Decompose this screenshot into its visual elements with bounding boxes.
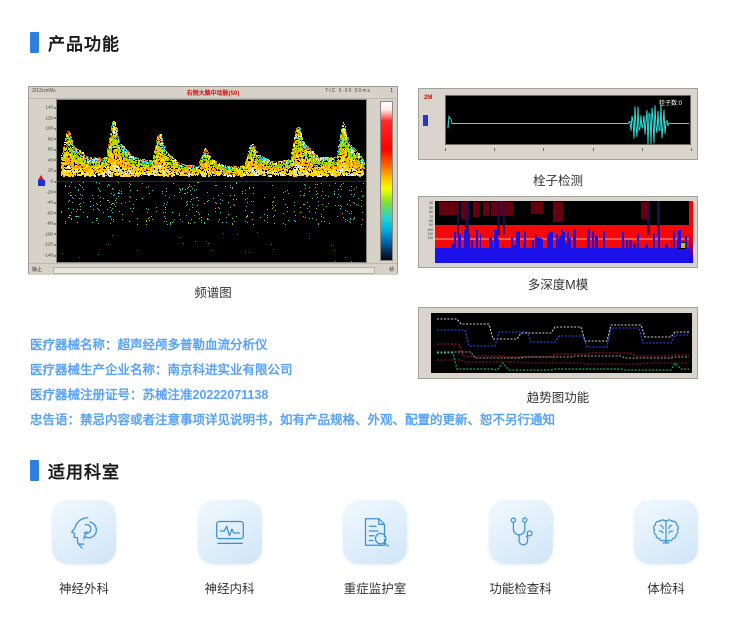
- stethoscope-icon: [489, 500, 553, 564]
- spectrum-y-tick: 80: [48, 136, 53, 141]
- embolus-depth-label: 2M: [424, 95, 432, 101]
- department-item-neurology[interactable]: 神经内科: [170, 500, 290, 597]
- mmode-depth-tick: 120: [427, 236, 433, 240]
- section-accent-bar: [30, 32, 39, 53]
- mmode-drip: [496, 235, 498, 248]
- spectrum-y-tick: -100: [44, 231, 53, 236]
- mmode-drip: [541, 239, 542, 248]
- spectrum-baseline: [57, 181, 366, 182]
- mmode-drip: [595, 236, 598, 248]
- spectrum-gate-marker[interactable]: [38, 175, 45, 186]
- mmode-drip: [592, 231, 593, 249]
- embolus-axis-tick: [445, 148, 446, 151]
- embolus-axis-tick: [593, 148, 594, 151]
- mmode-drip: [671, 240, 672, 248]
- spectrum-body: 140120100806040200-20-40-60-80-100-120-1…: [29, 99, 397, 263]
- spectrum-y-tick: -80: [46, 221, 53, 226]
- department-item-physical-exam[interactable]: 体检科: [606, 500, 726, 597]
- spectrum-scroll-track[interactable]: [53, 267, 375, 274]
- mmode-drip: [458, 234, 461, 248]
- mmode-drip: [489, 238, 492, 248]
- mmode-drip: [513, 245, 515, 248]
- mmode-drip: [480, 234, 481, 248]
- mmode-drip: [633, 243, 635, 248]
- mmode-drip: [637, 234, 640, 248]
- caption-spectrum: 频谱图: [118, 282, 308, 301]
- department-label: 神经外科: [59, 578, 109, 597]
- embolus-count-label: 栓子数:0: [659, 98, 682, 107]
- mmode-drip: [685, 236, 687, 249]
- department-list: 神经外科 神经内科 重症监护室: [24, 500, 726, 597]
- mmode-signal-blob: [553, 202, 563, 221]
- mmode-depth-axis: 405060708090100110120: [421, 201, 434, 263]
- document-search-icon: [343, 500, 407, 564]
- spectrum-screenshot: 3/12cmWs 右侧大脑中动脉(50) TIC 5.60 50ms 1 140…: [28, 86, 398, 274]
- mmode-drip: [465, 235, 467, 248]
- embolus-axis-tick: [543, 148, 544, 151]
- mmode-drip: [558, 239, 560, 248]
- department-label: 重症监护室: [344, 578, 407, 597]
- spectrum-y-tick: 120: [45, 115, 53, 120]
- spectrum-y-tick: 40: [48, 157, 53, 162]
- mmode-reverse-flow-band: [435, 248, 693, 263]
- section-accent-bar-departments: [30, 460, 39, 481]
- mmode-drip: [464, 231, 466, 249]
- mmode-drip: [678, 230, 680, 248]
- caption-mmode: 多深度M模: [458, 274, 658, 293]
- mmode-signal-blob: [473, 202, 479, 217]
- mmode-color-scale: [689, 201, 693, 263]
- spectrum-toolbar: 3/12cmWs 右侧大脑中动脉(50) TIC 5.60 50ms 1: [29, 87, 397, 99]
- mmode-drip: [549, 230, 550, 248]
- mmode-drip: [452, 245, 454, 248]
- mmode-canvas[interactable]: [435, 201, 693, 263]
- department-item-icu[interactable]: 重症监护室: [315, 500, 435, 597]
- mmode-drip: [565, 243, 567, 248]
- spectrum-status-bar: 静止 帧: [29, 263, 397, 275]
- spectrum-y-tick: 20: [48, 168, 53, 173]
- mmode-streak: [503, 201, 505, 235]
- spectrum-y-tick: 140: [45, 105, 53, 110]
- caption-embolus: 栓子检测: [463, 170, 653, 189]
- spectrum-y-tick: -60: [46, 210, 53, 215]
- embolus-axis-tick: [642, 148, 643, 151]
- department-label: 体检科: [647, 578, 685, 597]
- mmode-drip: [476, 230, 479, 248]
- spectrum-status-left: 静止: [32, 266, 42, 273]
- legal-line-device-name: 医疗器械名称：超声经颅多普勒血流分析仪: [30, 337, 590, 354]
- mmode-screenshot: 405060708090100110120: [418, 196, 698, 268]
- spectrum-y-tick: -140: [44, 253, 53, 258]
- mmode-drip: [603, 231, 606, 248]
- mmode-drip: [537, 238, 539, 248]
- department-label: 神经内科: [204, 578, 254, 597]
- embolus-axis-tick: [494, 148, 495, 151]
- spectrum-status-right: 帧: [389, 266, 394, 273]
- mmode-signal-blob: [531, 202, 543, 214]
- spectrum-waveform-canvas[interactable]: [56, 99, 367, 263]
- mmode-drip: [567, 231, 569, 248]
- monitor-ecg-icon: [198, 500, 262, 564]
- mmode-drip: [523, 244, 526, 248]
- section-header-departments: 适用科室: [30, 458, 120, 483]
- spectrum-y-axis: 140120100806040200-20-40-60-80-100-120-1…: [29, 99, 56, 263]
- mmode-drip: [658, 229, 660, 248]
- spectrum-page-number: 1: [390, 88, 393, 94]
- spectrum-y-tick: -20: [46, 189, 53, 194]
- mmode-signal-blob: [491, 202, 513, 216]
- mmode-drip: [573, 244, 575, 248]
- mmode-drip: [622, 232, 624, 248]
- mmode-drip: [673, 231, 675, 248]
- mmode-drip: [626, 240, 628, 248]
- mmode-streak: [457, 201, 459, 235]
- gate-marker-box-icon: [38, 180, 45, 186]
- mmode-drip: [561, 229, 563, 248]
- legal-line-manufacturer: 医疗器械生产企业名称：南京科进实业有限公司: [30, 362, 590, 379]
- mmode-drip: [494, 234, 495, 248]
- section-header-product: 产品功能: [30, 30, 120, 55]
- department-item-neurosurgery[interactable]: 神经外科: [24, 500, 144, 597]
- mmode-drip: [653, 234, 655, 248]
- mmode-signal-blob: [439, 202, 457, 215]
- mmode-streak: [647, 201, 650, 235]
- legal-line-registration: 医疗器械注册证号：苏械注准20222071138: [30, 387, 590, 404]
- mmode-drip: [629, 240, 632, 248]
- mmode-drip: [587, 229, 590, 248]
- mmode-drip: [471, 240, 473, 248]
- spectrum-y-tick: -40: [46, 200, 53, 205]
- mmode-drip: [551, 234, 552, 248]
- legal-line-warning: 忠告语：禁忌内容或者注意事项详见说明书，如有产品规格、外观、配置的更新、恕不另行…: [30, 412, 590, 429]
- mmode-drip: [532, 244, 533, 248]
- mmode-streak: [497, 201, 500, 235]
- mmode-drip: [665, 244, 668, 248]
- spectrum-y-tick: 0: [50, 179, 53, 184]
- embolus-screenshot: 2M 栓子数:0: [418, 88, 698, 160]
- mmode-drip: [503, 244, 505, 248]
- embolus-axis-tick: [691, 148, 692, 151]
- embolus-signal-svg: [446, 96, 691, 145]
- spectrum-y-tick: -120: [44, 242, 53, 247]
- spectrum-color-scale: [380, 101, 393, 261]
- brain-icon: [634, 500, 698, 564]
- legal-info-block: 医疗器械名称：超声经颅多普勒血流分析仪 医疗器械生产企业名称：南京科进实业有限公…: [30, 337, 590, 429]
- spectrum-y-tick: 100: [45, 126, 53, 131]
- page-title: 产品功能: [48, 30, 120, 55]
- mmode-drip: [517, 241, 519, 248]
- spectrum-y-tick: 60: [48, 147, 53, 152]
- spectrum-tic-label: TIC 5.60 50ms: [325, 88, 371, 94]
- embolus-gain-handle[interactable]: [423, 115, 428, 126]
- head-brain-icon: [52, 500, 116, 564]
- mmode-signal-blob: [483, 202, 489, 216]
- mmode-drip: [645, 244, 648, 248]
- embolus-waveform-canvas[interactable]: 栓子数:0: [445, 95, 691, 145]
- department-label: 功能检查科: [489, 578, 552, 597]
- departments-title: 适用科室: [48, 458, 120, 483]
- department-item-functional-exam[interactable]: 功能检查科: [461, 500, 581, 597]
- embolus-time-axis: [445, 148, 691, 156]
